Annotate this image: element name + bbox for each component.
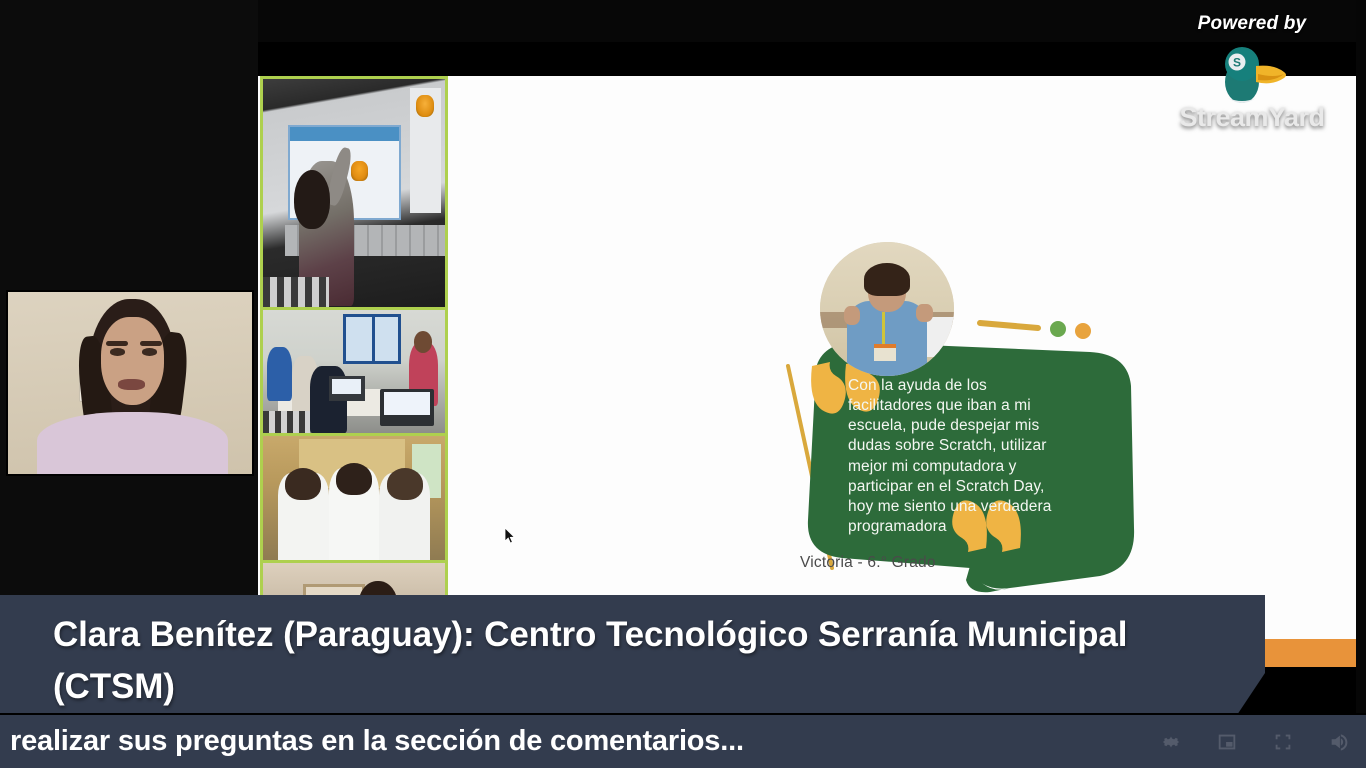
scratch-cat-icon <box>351 161 368 181</box>
laptop <box>329 376 365 401</box>
speaker-title: Clara Benítez (Paraguay): Centro Tecnoló… <box>53 609 1173 713</box>
participant-eyebrow <box>106 341 128 346</box>
participant-video-tile[interactable] <box>6 290 254 476</box>
portrait-victoria <box>820 242 954 376</box>
quote-attribution: Victoria - 6.° Grado <box>800 554 936 572</box>
photo-collage <box>260 76 448 636</box>
duck-logo-icon: S <box>1206 42 1298 104</box>
portrait-hand <box>844 306 860 325</box>
streamyard-logo: S StreamYard <box>1152 40 1352 140</box>
participant-mouth <box>118 379 145 390</box>
caption-text: realizar sus preguntas en la sección de … <box>10 725 1150 758</box>
participant-face <box>101 317 164 404</box>
powered-by-block: Powered by <box>1152 14 1352 33</box>
student-hair <box>285 468 321 500</box>
streamyard-broadcast-view: Con la ayuda de los facilitadores que ib… <box>0 0 1366 768</box>
powered-by-label: Powered by <box>1152 14 1352 33</box>
quote-text: Con la ayuda de los facilitadores que ib… <box>848 376 1070 537</box>
portrait-hand <box>916 304 932 323</box>
checkered-floor <box>263 277 329 307</box>
player-controls[interactable] <box>1160 715 1350 768</box>
settings-gear-icon[interactable] <box>1160 731 1182 753</box>
mouse-cursor <box>504 527 516 545</box>
lanyard <box>882 312 885 347</box>
caption-bar: realizar sus preguntas en la sección de … <box>0 715 1366 768</box>
student-hair <box>294 170 330 229</box>
right-letterbox <box>1356 0 1366 715</box>
volume-icon[interactable] <box>1328 731 1350 753</box>
photo-classroom-laptops <box>263 310 445 434</box>
checkered-floor <box>263 411 310 433</box>
streamyard-wordmark: StreamYard <box>1152 102 1352 133</box>
student-figure <box>267 347 292 401</box>
student-hair <box>336 463 372 495</box>
lower-third-banner: Clara Benítez (Paraguay): Centro Tecnoló… <box>0 595 1265 715</box>
participant-shirt <box>37 412 227 474</box>
portrait-hair <box>864 263 910 295</box>
participant-eye <box>142 348 157 355</box>
scratch-cat-poster-icon <box>416 95 434 117</box>
participant-eyebrow <box>140 341 162 346</box>
classroom-window <box>343 314 401 363</box>
fullscreen-icon[interactable] <box>1272 731 1294 753</box>
participant-eye <box>110 348 125 355</box>
scratch-titlebar <box>290 127 399 142</box>
photo-whiteboard-scratch <box>263 79 445 307</box>
picture-in-picture-icon[interactable] <box>1216 731 1238 753</box>
caption-separator <box>0 713 1366 715</box>
laptop <box>380 389 435 426</box>
duck-badge-letter: S <box>1233 56 1241 70</box>
id-badge <box>874 344 897 361</box>
quote-graphic: Con la ayuda de los facilitadores que ib… <box>450 76 1356 636</box>
student-hair <box>387 468 423 500</box>
photo-three-students <box>263 436 445 560</box>
